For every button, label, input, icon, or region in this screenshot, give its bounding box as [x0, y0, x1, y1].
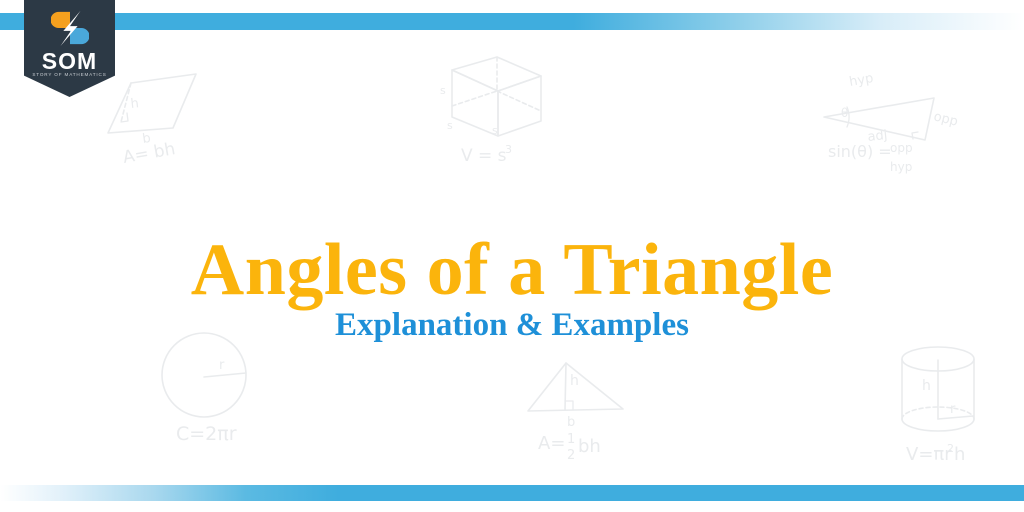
triangle-formula-numerator: 1: [567, 432, 575, 447]
cube-side-left-label: s: [440, 84, 446, 97]
circle-icon: [162, 333, 246, 417]
cylinder-radius-label: r: [950, 402, 956, 417]
cylinder-formula-left: V=πr: [906, 444, 952, 465]
parallelogram-base-label: b: [141, 131, 151, 147]
cylinder-formula-exponent: 2: [947, 442, 954, 455]
cylinder-icon: [902, 347, 974, 431]
cube-side-front-label: s: [447, 119, 453, 132]
triangle-base-label: b: [567, 415, 575, 430]
cube-formula-exponent: 3: [505, 143, 512, 156]
right-triangle-hyp-label: hyp: [848, 71, 874, 90]
page-subtitle: Explanation & Examples: [0, 309, 1024, 342]
right-triangle-formula-denominator: hyp: [890, 160, 912, 174]
right-triangle-icon: [824, 98, 934, 140]
bottom-accent-bar: [0, 485, 1024, 501]
cylinder-height-label: h: [922, 378, 931, 394]
parallelogram-icon: [108, 74, 196, 133]
triangle-formula-denominator: 2: [567, 448, 575, 463]
slide-canvas: h b A= bh s s s V = s 3 hyp opp adj θ si…: [0, 0, 1024, 512]
som-logo-tagline: STORY OF MATHEMATICS: [24, 73, 115, 78]
right-triangle-formula-numerator: opp: [890, 141, 913, 155]
top-accent-bar: [0, 13, 1024, 30]
parallelogram-height-label: h: [130, 96, 140, 112]
triangle-icon: [528, 363, 623, 411]
som-logo-wordmark: SOM: [24, 50, 115, 73]
triangle-height-label: h: [570, 373, 579, 389]
page-title: Angles of a Triangle: [0, 233, 1024, 307]
cylinder-formula-right: h: [954, 444, 965, 465]
right-triangle-opp-label: opp: [932, 109, 959, 129]
circle-radius-label: r: [219, 358, 225, 373]
som-bolt-icon: [51, 9, 89, 47]
right-triangle-angle-label: θ: [841, 106, 848, 120]
triangle-formula-left: A=: [538, 433, 565, 454]
cube-icon: [452, 57, 541, 136]
som-logo-badge[interactable]: SOM STORY OF MATHEMATICS: [24, 0, 115, 97]
right-triangle-formula-left: sin(θ) =: [828, 142, 892, 161]
parallelogram-formula: A= bh: [121, 139, 177, 168]
circle-formula: C=2πr: [176, 423, 237, 445]
cube-formula: V = s: [461, 146, 507, 166]
triangle-formula-right: bh: [578, 436, 601, 457]
cube-side-bottom-label: s: [492, 124, 498, 137]
right-triangle-adj-label: adj: [867, 128, 888, 145]
